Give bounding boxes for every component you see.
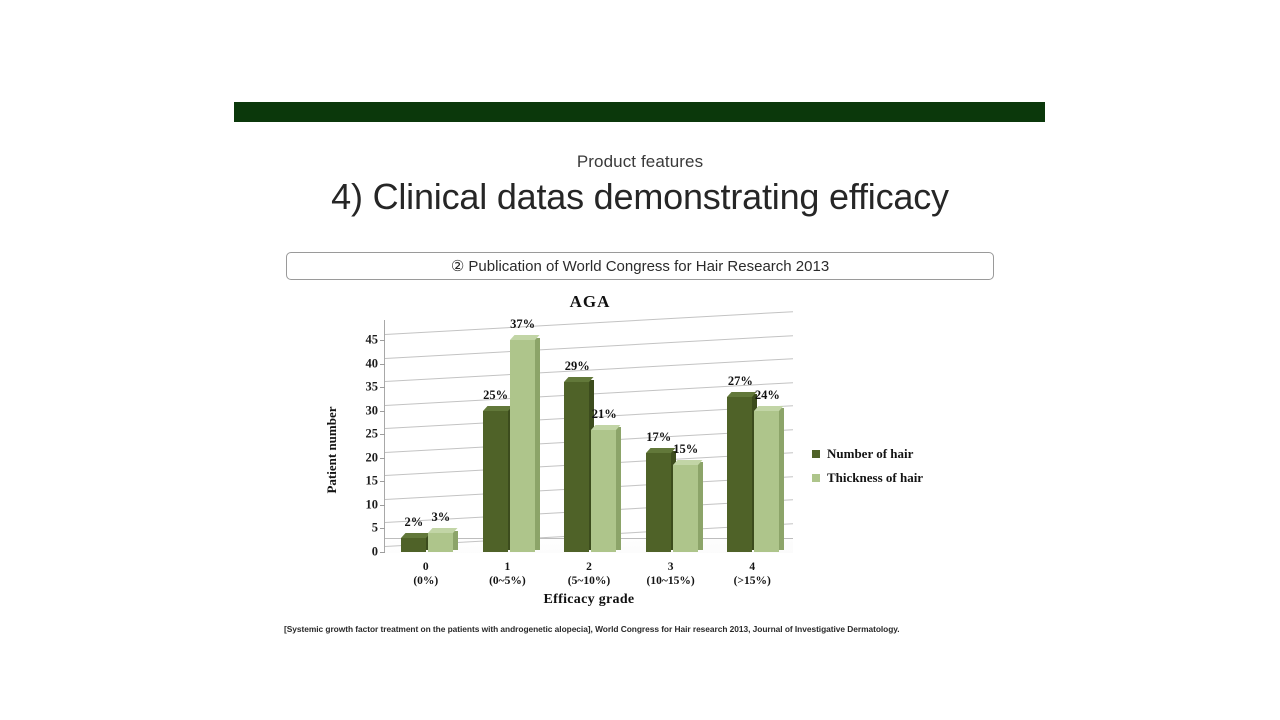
bar-top-face — [564, 377, 594, 382]
bar-number-of-hair: 25% — [483, 406, 508, 552]
y-axis-tick: 25 — [366, 427, 379, 442]
x-axis-tick: 0(0%) — [385, 560, 467, 588]
slide-eyebrow: Product features — [0, 152, 1280, 172]
y-axis-tick: 30 — [366, 403, 379, 418]
chart-legend: Number of hairThickness of hair — [812, 446, 992, 494]
x-tick-range: (0%) — [385, 574, 467, 588]
y-axis-tick-mark — [380, 552, 385, 553]
bar-top-face — [673, 460, 703, 465]
bar-front-face — [428, 533, 453, 552]
bar-value-label: 17% — [646, 430, 671, 445]
x-tick-range: (10~15%) — [630, 574, 712, 588]
x-axis-label: Efficacy grade — [385, 592, 793, 608]
bar-number-of-hair: 2% — [401, 533, 426, 552]
bar-thickness-of-hair: 24% — [754, 406, 779, 552]
bar-value-label: 24% — [755, 388, 780, 403]
bar-thickness-of-hair: 15% — [673, 460, 698, 552]
chart-container: AGA Patient number 0510152025303540452%3… — [330, 292, 1000, 612]
bar-side-face — [616, 427, 621, 549]
bar-top-face — [510, 335, 540, 340]
bar-thickness-of-hair: 21% — [591, 425, 616, 552]
plot-area: 0510152025303540452%3%25%37%29%21%17%15%… — [385, 326, 793, 552]
page-title: 4) Clinical datas demonstrating efficacy — [0, 176, 1280, 218]
x-tick-range: (5~10%) — [548, 574, 630, 588]
footnote: [Systemic growth factor treatment on the… — [284, 624, 1000, 634]
legend-label: Thickness of hair — [827, 470, 923, 486]
bar-number-of-hair: 17% — [646, 448, 671, 552]
bar-value-label: 29% — [565, 359, 590, 374]
x-tick-range: (>15%) — [711, 574, 793, 588]
subtitle-text: ② Publication of World Congress for Hair… — [451, 257, 829, 275]
legend-label: Number of hair — [827, 446, 913, 462]
bar-side-face — [698, 462, 703, 549]
bar-group: 25%37% — [467, 326, 549, 552]
bar-front-face — [401, 538, 426, 552]
bar-side-face — [535, 338, 540, 550]
bar-top-face — [727, 392, 757, 397]
x-tick-grade: 2 — [548, 560, 630, 574]
bar-front-face — [646, 453, 671, 552]
x-tick-range: (0~5%) — [467, 574, 549, 588]
chart-title: AGA — [330, 292, 850, 312]
bar-top-face — [591, 425, 621, 430]
bar-thickness-of-hair: 3% — [428, 528, 453, 552]
bar-top-face — [754, 406, 784, 411]
bar-front-face — [754, 411, 779, 552]
y-axis-tick: 35 — [366, 380, 379, 395]
bar-top-face — [401, 533, 431, 538]
y-axis-label: Patient number — [324, 406, 340, 493]
y-axis-tick: 0 — [372, 545, 378, 560]
bar-top-face — [428, 528, 458, 533]
y-axis-tick: 40 — [366, 356, 379, 371]
bar-front-face — [673, 465, 698, 552]
bar-value-label: 25% — [483, 388, 508, 403]
bar-front-face — [727, 397, 752, 552]
legend-swatch-icon — [812, 474, 820, 482]
bar-group: 29%21% — [548, 326, 630, 552]
bar-top-face — [646, 448, 676, 453]
bar-value-label: 2% — [405, 515, 424, 530]
y-axis-tick: 10 — [366, 497, 379, 512]
bar-thickness-of-hair: 37% — [510, 335, 535, 552]
bar-group: 27%24% — [711, 326, 793, 552]
bar-value-label: 3% — [432, 510, 451, 525]
x-axis-tick: 4(>15%) — [711, 560, 793, 588]
bar-value-label: 21% — [592, 407, 617, 422]
y-axis-tick: 45 — [366, 333, 379, 348]
bar-front-face — [483, 411, 508, 552]
slide-accent-bar — [234, 102, 1045, 122]
y-axis-tick: 20 — [366, 450, 379, 465]
bar-top-face — [483, 406, 513, 411]
x-tick-grade: 1 — [467, 560, 549, 574]
x-tick-grade: 4 — [711, 560, 793, 574]
bar-front-face — [591, 430, 616, 552]
x-tick-grade: 0 — [385, 560, 467, 574]
legend-item: Thickness of hair — [812, 470, 992, 486]
bar-value-label: 15% — [673, 442, 698, 457]
y-axis-tick: 5 — [372, 521, 378, 536]
bar-group: 2%3% — [385, 326, 467, 552]
x-axis-tick: 2(5~10%) — [548, 560, 630, 588]
bar-front-face — [510, 340, 535, 552]
bar-number-of-hair: 27% — [727, 392, 752, 552]
bar-side-face — [453, 531, 458, 550]
legend-swatch-icon — [812, 450, 820, 458]
legend-item: Number of hair — [812, 446, 992, 462]
bar-number-of-hair: 29% — [564, 377, 589, 552]
bar-front-face — [564, 382, 589, 552]
bar-value-label: 27% — [728, 374, 753, 389]
bar-group: 17%15% — [630, 326, 712, 552]
y-axis-tick: 15 — [366, 474, 379, 489]
subtitle-box: ② Publication of World Congress for Hair… — [286, 252, 994, 280]
bar-side-face — [779, 408, 784, 549]
x-axis-tick: 1(0~5%) — [467, 560, 549, 588]
x-tick-grade: 3 — [630, 560, 712, 574]
x-axis-tick: 3(10~15%) — [630, 560, 712, 588]
bar-value-label: 37% — [510, 317, 535, 332]
